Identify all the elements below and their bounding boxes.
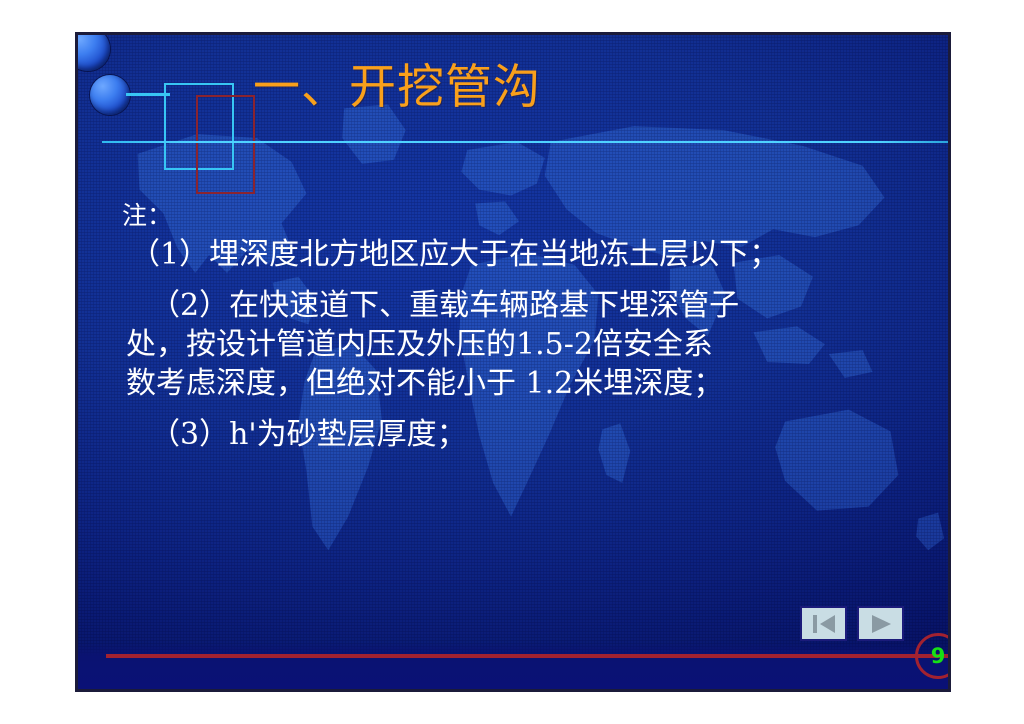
slide-bottom-band (78, 643, 948, 689)
previous-slide-button[interactable] (800, 606, 847, 641)
note-item-2-line-3: 数考虑深度，但绝对不能小于 1.2米埋深度； (122, 364, 922, 403)
note-label: 注： (122, 200, 922, 231)
slide-body: 注： （1）埋深度北方地区应大于在当地冻土层以下； （2）在快速道下、重载车辆路… (122, 200, 922, 454)
note-item-2-line-1: （2）在快速道下、重载车辆路基下埋深管子 (122, 286, 922, 325)
next-triangle-icon (868, 614, 894, 634)
presentation-slide[interactable]: 一、开挖管沟 注： （1）埋深度北方地区应大于在当地冻土层以下； （2）在快速道… (75, 32, 951, 692)
slide-navigation (800, 606, 904, 641)
previous-triangle-icon (811, 614, 837, 634)
page-number: 9 (931, 646, 946, 667)
next-slide-button[interactable] (857, 606, 904, 641)
note-item-1: （1）埋深度北方地区应大于在当地冻土层以下； (122, 235, 922, 274)
note-item-2-line-2: 处，按设计管道内压及外压的1.5-2倍安全系 (122, 325, 922, 364)
slide-title: 一、开挖管沟 (253, 63, 541, 114)
note-item-3: （3）h'为砂垫层厚度； (122, 415, 922, 454)
